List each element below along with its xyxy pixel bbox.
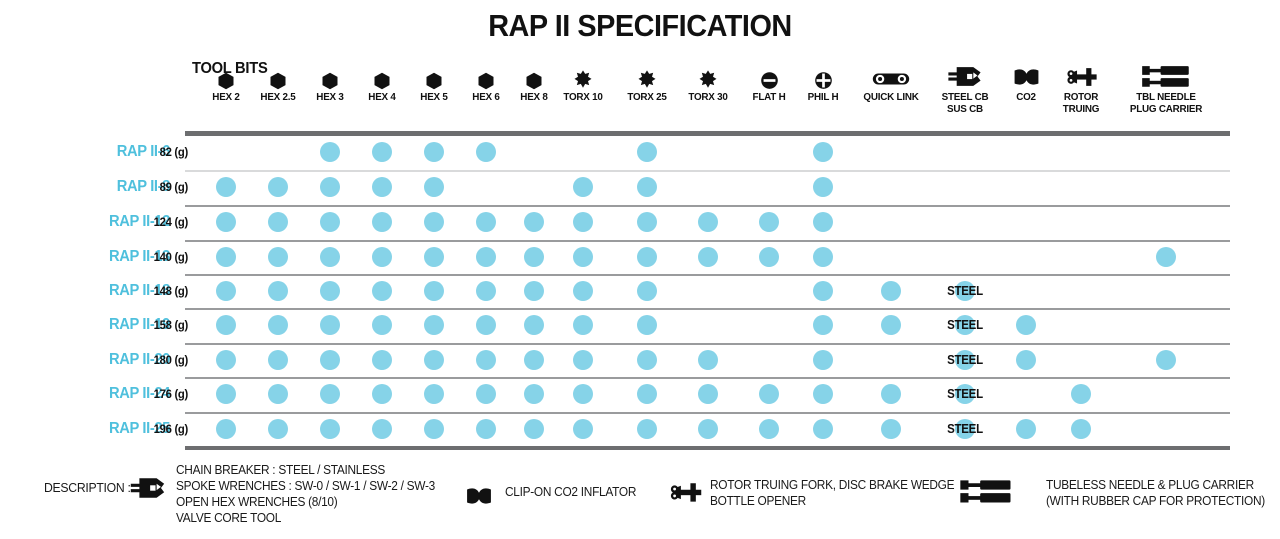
spec-cell-text: STEEL (936, 422, 995, 436)
spec-dot (476, 384, 496, 404)
column-header-label: TBL NEEDLEPLUG CARRIER (1126, 92, 1207, 115)
spec-dot (320, 350, 340, 370)
column-header-label: ROTORTRUING (1041, 92, 1122, 115)
spec-dot (1016, 419, 1036, 439)
row-divider (185, 240, 1230, 242)
spec-dot (372, 350, 392, 370)
spec-dot (424, 247, 444, 267)
spec-dot (1156, 350, 1176, 370)
spec-cell-text: STEEL (936, 284, 995, 298)
footer-rule (185, 446, 1230, 450)
spec-dot (372, 315, 392, 335)
spec-dot (216, 315, 236, 335)
spec-dot (524, 212, 544, 232)
row-weight-label: 89 (g) (143, 180, 188, 194)
spec-dot (424, 419, 444, 439)
spec-dot (573, 350, 593, 370)
row-weight-label: 140 (g) (143, 250, 188, 264)
spec-dot (524, 419, 544, 439)
phillips-head-icon (791, 60, 855, 90)
torx-star-icon (551, 60, 615, 90)
spec-cell-text: STEEL (936, 387, 995, 401)
spec-dot (372, 177, 392, 197)
spec-dot (881, 315, 901, 335)
spec-dot (698, 247, 718, 267)
spec-dot (476, 281, 496, 301)
spec-dot (524, 247, 544, 267)
spec-dot (268, 177, 288, 197)
spec-dot (698, 212, 718, 232)
spec-dot (813, 281, 833, 301)
row-weight-label: 196 (g) (143, 422, 188, 436)
spec-dot (637, 177, 657, 197)
spec-cell-text: STEEL (936, 353, 995, 367)
spec-dot (698, 350, 718, 370)
spec-dot (759, 212, 779, 232)
spec-dot (1156, 247, 1176, 267)
column-header-philh: PHIL H (791, 60, 855, 104)
spec-dot (759, 247, 779, 267)
spec-dot (424, 177, 444, 197)
rotor-truing-icon (666, 480, 704, 506)
spec-dot (524, 281, 544, 301)
row-divider (185, 377, 1230, 379)
spec-dot (759, 419, 779, 439)
spec-dot (424, 142, 444, 162)
legend-item-text: ROTOR TRUING FORK, DISC BRAKE WEDGE BOTT… (710, 477, 954, 509)
row-divider (185, 343, 1230, 345)
spec-dot (424, 350, 444, 370)
spec-dot (524, 315, 544, 335)
spec-dot (268, 419, 288, 439)
spec-dot (268, 315, 288, 335)
tubeless-needle-icon (1123, 60, 1209, 90)
spec-dot (320, 281, 340, 301)
spec-dot (268, 212, 288, 232)
header-rule (185, 131, 1230, 136)
column-header-label: TORX 10 (553, 92, 613, 104)
spec-dot (320, 247, 340, 267)
spec-dot (372, 247, 392, 267)
spec-dot (813, 247, 833, 267)
row-weight-label: 180 (g) (143, 353, 188, 367)
spec-dot (637, 247, 657, 267)
spec-dot (320, 419, 340, 439)
spec-dot (476, 212, 496, 232)
spec-dot (573, 384, 593, 404)
column-header-label: QUICK LINK (851, 92, 932, 104)
spec-dot (813, 142, 833, 162)
column-header-label: PHIL H (793, 92, 853, 104)
spec-dot (637, 281, 657, 301)
tubeless-needle-icon (958, 478, 1014, 506)
legend-item-text: CLIP-ON CO2 INFLATOR (505, 484, 636, 500)
spec-dot (372, 212, 392, 232)
spec-dot (320, 212, 340, 232)
spec-dot (268, 384, 288, 404)
spec-dot (372, 142, 392, 162)
spec-dot (1016, 315, 1036, 335)
row-weight-label: 148 (g) (143, 284, 188, 298)
spec-dot (1071, 384, 1091, 404)
row-divider (185, 274, 1230, 276)
row-weight-label: 158 (g) (143, 318, 188, 332)
legend-item-text: CHAIN BREAKER : STEEL / STAINLESS SPOKE … (176, 462, 435, 526)
spec-dot (813, 384, 833, 404)
spec-dot (637, 384, 657, 404)
description-label: DESCRIPTION : (44, 480, 131, 495)
spec-dot (372, 419, 392, 439)
row-divider (185, 205, 1230, 207)
torx-star-icon (615, 60, 679, 90)
column-header-label: TORX 25 (617, 92, 677, 104)
spec-dot (320, 177, 340, 197)
legend-item-text: TUBELESS NEEDLE & PLUG CARRIER (WITH RUB… (1046, 477, 1265, 509)
column-header-torx30: TORX 30 (676, 60, 740, 104)
spec-dot (573, 281, 593, 301)
co2-inflator-icon (464, 483, 494, 509)
spec-dot (524, 350, 544, 370)
rotor-truing-icon (1038, 60, 1124, 90)
spec-dot (637, 142, 657, 162)
spec-dot (524, 384, 544, 404)
spec-dot (573, 177, 593, 197)
column-header-rotor: ROTORTRUING (1038, 60, 1124, 115)
row-weight-label: 124 (g) (143, 215, 188, 229)
column-header-torx10: TORX 10 (551, 60, 615, 104)
spec-dot (216, 384, 236, 404)
spec-dot (573, 212, 593, 232)
spec-dot (637, 212, 657, 232)
spec-sheet: RAP II SPECIFICATION TOOL BITS HEX 2HEX … (0, 0, 1280, 539)
spec-dot (320, 315, 340, 335)
spec-cell-text: STEEL (936, 318, 995, 332)
chain-breaker-icon (128, 474, 168, 502)
column-header-tbl: TBL NEEDLEPLUG CARRIER (1123, 60, 1209, 115)
spec-dot (813, 315, 833, 335)
spec-dot (573, 247, 593, 267)
spec-dot (637, 350, 657, 370)
row-divider (185, 308, 1230, 310)
spec-dot (216, 281, 236, 301)
spec-dot (881, 281, 901, 301)
spec-dot (813, 177, 833, 197)
spec-dot (813, 350, 833, 370)
row-divider (185, 412, 1230, 414)
spec-dot (759, 384, 779, 404)
row-weight-label: 176 (g) (143, 387, 188, 401)
spec-dot (476, 247, 496, 267)
spec-dot (698, 419, 718, 439)
spec-dot (216, 212, 236, 232)
row-weight-label: 82 (g) (143, 145, 188, 159)
row-divider (185, 170, 1230, 172)
spec-dot (268, 281, 288, 301)
spec-dot (424, 384, 444, 404)
spec-dot (320, 384, 340, 404)
spec-dot (881, 419, 901, 439)
spec-dot (476, 350, 496, 370)
spec-dot (216, 350, 236, 370)
torx-star-icon (676, 60, 740, 90)
spec-dot (1016, 350, 1036, 370)
spec-dot (424, 212, 444, 232)
spec-dot (424, 281, 444, 301)
spec-dot (216, 247, 236, 267)
spec-dot (320, 142, 340, 162)
spec-dot (476, 419, 496, 439)
spec-dot (372, 384, 392, 404)
spec-dot (268, 247, 288, 267)
spec-dot (813, 419, 833, 439)
page-title: RAP II SPECIFICATION (45, 8, 1235, 44)
column-header-label: TORX 30 (678, 92, 738, 104)
spec-dot (372, 281, 392, 301)
spec-dot (476, 315, 496, 335)
spec-dot (216, 419, 236, 439)
spec-dot (573, 419, 593, 439)
spec-dot (424, 315, 444, 335)
spec-dot (813, 212, 833, 232)
spec-dot (476, 142, 496, 162)
spec-dot (216, 177, 236, 197)
spec-dot (637, 315, 657, 335)
spec-dot (573, 315, 593, 335)
spec-dot (1071, 419, 1091, 439)
spec-dot (881, 384, 901, 404)
column-header-torx25: TORX 25 (615, 60, 679, 104)
spec-dot (268, 350, 288, 370)
spec-dot (698, 384, 718, 404)
spec-dot (637, 419, 657, 439)
